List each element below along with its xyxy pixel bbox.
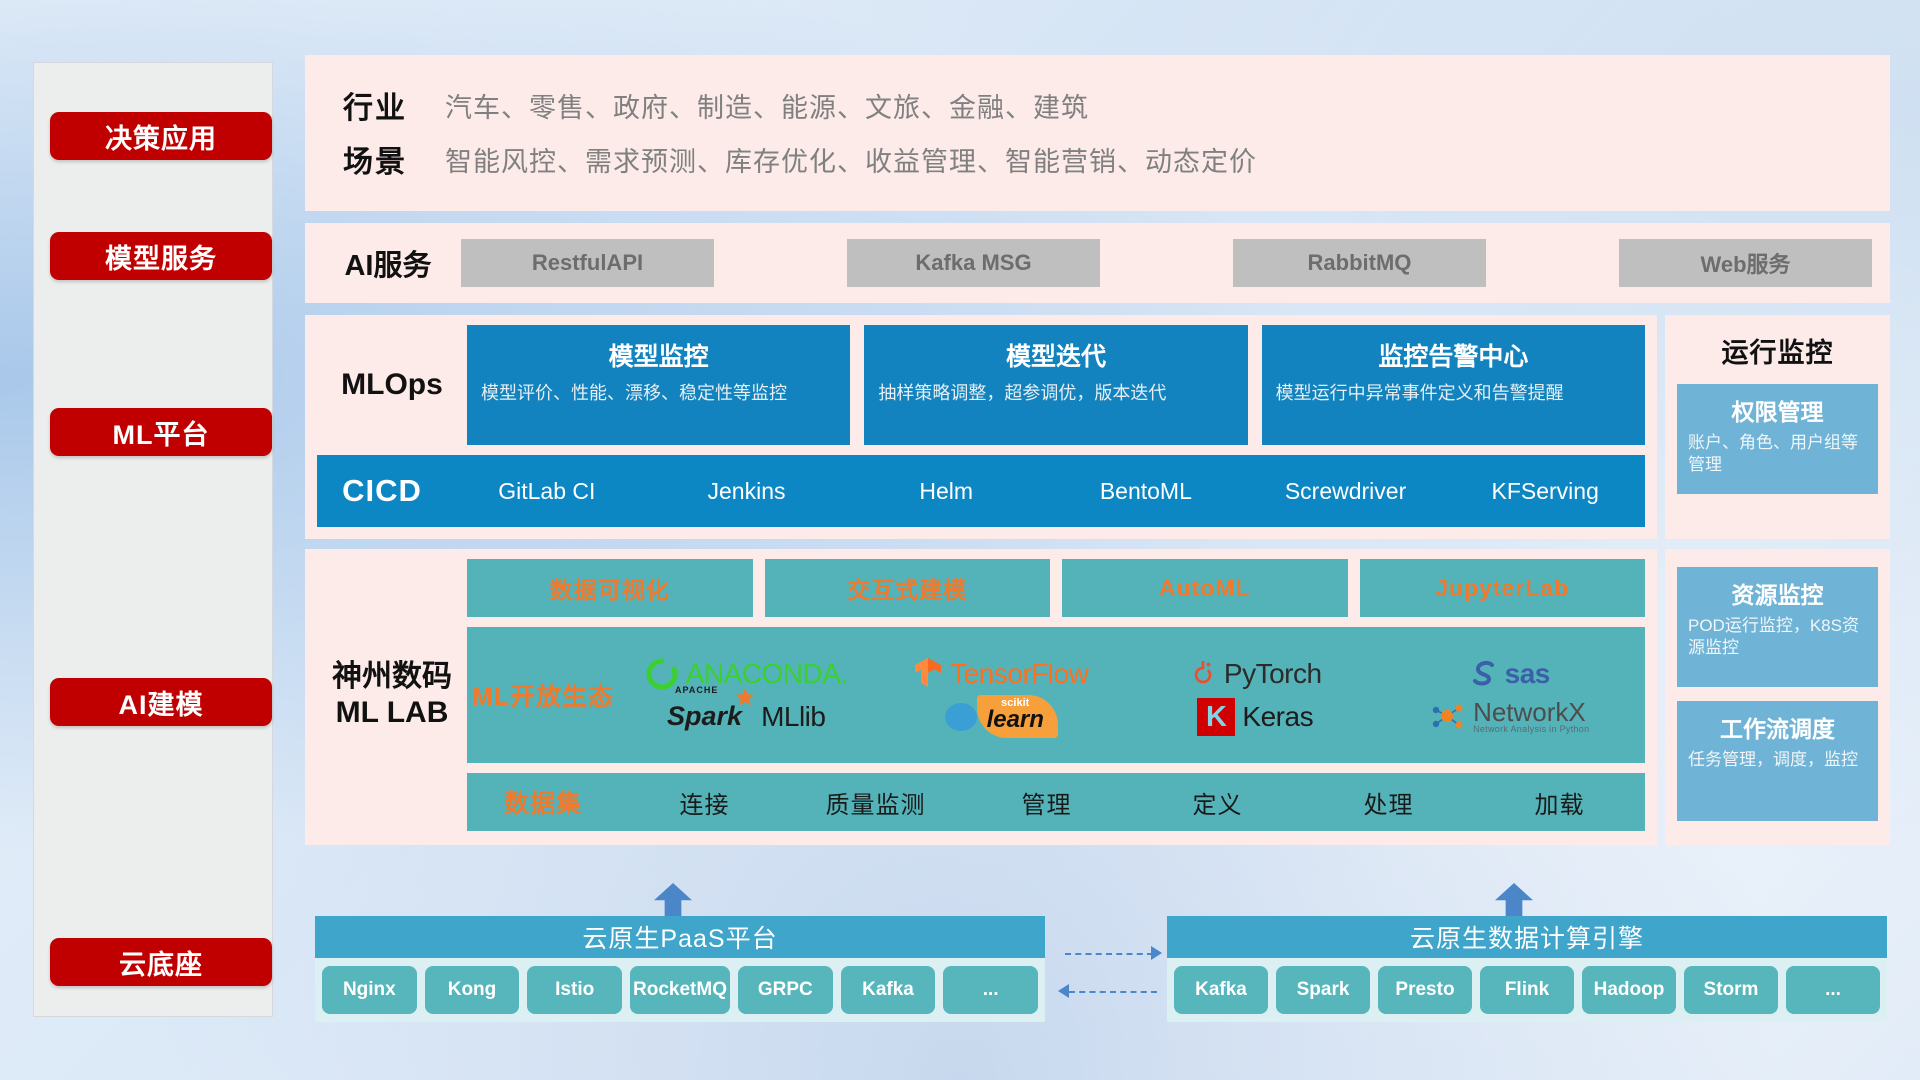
- scenario-key: 场景: [305, 137, 445, 181]
- rail-item-cloud-base[interactable]: 云底座: [50, 938, 272, 986]
- paas-box: 云原生PaaS平台 Nginx Kong Istio RocketMQ GRPC…: [315, 916, 1045, 1022]
- sas-logo[interactable]: sas: [1470, 658, 1550, 690]
- arrow-up-paas: [654, 883, 692, 919]
- mllab-chip-automl[interactable]: AutoML: [1062, 559, 1348, 617]
- mllib-label: MLlib: [761, 701, 825, 733]
- mllab-chip-jupyterlab[interactable]: JupyterLab: [1360, 559, 1646, 617]
- rail-label: 模型服务: [105, 237, 217, 276]
- mlops-lane: MLOps 模型监控 模型评价、性能、漂移、稳定性等监控 模型迭代 抽样策略调整…: [317, 325, 1645, 445]
- architecture-diagram: 决策应用 模型服务 ML平台 AI建模 云底座 行业 汽车、零售、政府、制造、能…: [0, 0, 1920, 1080]
- keras-mark-icon: K: [1197, 698, 1235, 736]
- rail-item-decision-app[interactable]: 决策应用: [50, 112, 272, 160]
- mllab-label-line2: ML LAB: [336, 696, 449, 729]
- cicd-bar: CICD GitLab CI Jenkins Helm BentoML Scre…: [317, 455, 1645, 527]
- mlops-card-alert-center[interactable]: 监控告警中心 模型运行中异常事件定义和告警提醒: [1262, 325, 1645, 445]
- compute-chips: Kafka Spark Presto Flink Hadoop Storm ..…: [1167, 958, 1887, 1022]
- sas-label: sas: [1505, 658, 1550, 690]
- pytorch-label: PyTorch: [1224, 658, 1322, 690]
- rail-label: 决策应用: [105, 117, 217, 156]
- cicd-item-screwdriver[interactable]: Screwdriver: [1246, 479, 1446, 503]
- paas-chip-grpc[interactable]: GRPC: [738, 966, 833, 1014]
- monitor-panel-top: 运行监控 权限管理 账户、角色、用户组等管理: [1665, 315, 1890, 539]
- ai-service-tag-web[interactable]: Web服务: [1619, 239, 1872, 287]
- card-title: 资源监控: [1688, 576, 1867, 610]
- industry-key: 行业: [305, 83, 445, 127]
- apache-label: APACHE: [675, 685, 718, 695]
- mlops-card-model-iteration[interactable]: 模型迭代 抽样策略调整，超参调优，版本迭代: [864, 325, 1247, 445]
- paas-chip-kong[interactable]: Kong: [425, 966, 520, 1014]
- spark-label: Spark: [667, 701, 742, 731]
- monitor-title: 运行监控: [1677, 331, 1878, 370]
- paas-chip-more[interactable]: ...: [943, 966, 1038, 1014]
- cloud-base-section: 云原生PaaS平台 Nginx Kong Istio RocketMQ GRPC…: [305, 893, 1890, 1013]
- paas-title: 云原生PaaS平台: [315, 916, 1045, 958]
- industry-value: 汽车、零售、政府、制造、能源、文旅、金融、建筑: [445, 86, 1089, 125]
- mlops-card-model-monitoring[interactable]: 模型监控 模型评价、性能、漂移、稳定性等监控: [467, 325, 850, 445]
- mllab-panel: 神州数码 ML LAB 数据可视化 交互式建模 AutoML JupyterLa…: [305, 549, 1657, 845]
- paas-chip-kafka[interactable]: Kafka: [841, 966, 936, 1014]
- arrow-up-compute: [1495, 883, 1533, 919]
- card-title: 监控告警中心: [1276, 337, 1631, 373]
- anaconda-icon: [645, 657, 679, 691]
- mllab-body: 数据可视化 交互式建模 AutoML JupyterLab ML开放生态: [467, 559, 1645, 831]
- compute-title: 云原生数据计算引擎: [1167, 916, 1887, 958]
- mllab-lane: 神州数码 ML LAB 数据可视化 交互式建模 AutoML JupyterLa…: [317, 559, 1645, 831]
- mlops-panel: MLOps 模型监控 模型评价、性能、漂移、稳定性等监控 模型迭代 抽样策略调整…: [305, 315, 1657, 539]
- dashed-line-right: [1065, 953, 1153, 955]
- rail-item-ai-modeling[interactable]: AI建模: [50, 678, 272, 726]
- layer-rail: [33, 62, 273, 1017]
- rail-label: ML平台: [113, 413, 210, 452]
- paas-chip-nginx[interactable]: Nginx: [322, 966, 417, 1014]
- compute-chip-more[interactable]: ...: [1786, 966, 1880, 1014]
- card-title: 工作流调度: [1688, 710, 1867, 744]
- scenario-value: 智能风控、需求预测、库存优化、收益管理、智能营销、动态定价: [445, 140, 1257, 179]
- ai-service-band: AI服务 RestfulAPI Kafka MSG RabbitMQ Web服务: [305, 223, 1890, 303]
- monitor-card-workflow[interactable]: 工作流调度 任务管理，调度，监控: [1677, 701, 1878, 821]
- ai-service-tag-rabbitmq[interactable]: RabbitMQ: [1233, 239, 1486, 287]
- networkx-label: NetworkX: [1473, 697, 1586, 727]
- compute-chip-presto[interactable]: Presto: [1378, 966, 1472, 1014]
- mlops-row: MLOps 模型监控 模型评价、性能、漂移、稳定性等监控 模型迭代 抽样策略调整…: [305, 315, 1890, 539]
- ml-ecosystem-label: ML开放生态: [467, 677, 619, 713]
- pytorch-logo[interactable]: PyTorch: [1189, 658, 1322, 690]
- dataset-item-process[interactable]: 处理: [1303, 785, 1474, 820]
- card-desc: 抽样策略调整，超参调优，版本迭代: [878, 381, 1233, 405]
- cicd-item-bentoml[interactable]: BentoML: [1046, 479, 1246, 503]
- networkx-logo[interactable]: NetworkX Network Analysis in Python: [1430, 699, 1589, 734]
- compute-chip-flink[interactable]: Flink: [1480, 966, 1574, 1014]
- compute-chip-spark[interactable]: Spark: [1276, 966, 1370, 1014]
- mlops-cards: 模型监控 模型评价、性能、漂移、稳定性等监控 模型迭代 抽样策略调整，超参调优，…: [467, 325, 1645, 445]
- sas-icon: [1470, 659, 1498, 689]
- cicd-item-kfserving[interactable]: KFServing: [1445, 479, 1645, 503]
- dataset-item-load[interactable]: 加载: [1474, 785, 1645, 820]
- tensorflow-logo[interactable]: TensorFlow: [913, 657, 1088, 691]
- paas-chip-istio[interactable]: Istio: [527, 966, 622, 1014]
- dataset-item-connect[interactable]: 连接: [619, 785, 790, 820]
- spark-mllib-logo[interactable]: APACHE Spark MLlib: [667, 701, 825, 733]
- dataset-item-quality[interactable]: 质量监测: [790, 785, 961, 820]
- dashed-line-left: [1069, 991, 1157, 993]
- card-desc: 任务管理，调度，监控: [1688, 749, 1867, 771]
- card-title: 模型监控: [481, 337, 836, 373]
- card-desc: POD运行监控，K8S资源监控: [1688, 615, 1867, 659]
- paas-chip-rocketmq[interactable]: RocketMQ: [630, 966, 730, 1014]
- industry-scenario-band: 行业 汽车、零售、政府、制造、能源、文旅、金融、建筑 场景 智能风控、需求预测、…: [305, 55, 1890, 211]
- ml-ecosystem-logos: ANACONDA. TensorFlow: [619, 652, 1645, 738]
- card-title: 权限管理: [1688, 393, 1867, 427]
- scenario-row: 场景 智能风控、需求预测、库存优化、收益管理、智能营销、动态定价: [305, 137, 1890, 181]
- networkx-graph-icon: [1430, 701, 1466, 733]
- mllab-label: 神州数码 ML LAB: [317, 559, 467, 831]
- rail-label: 云底座: [119, 943, 203, 982]
- rail-item-model-service[interactable]: 模型服务: [50, 232, 272, 280]
- main-column: 行业 汽车、零售、政府、制造、能源、文旅、金融、建筑 场景 智能风控、需求预测、…: [305, 55, 1890, 855]
- cicd-items: GitLab CI Jenkins Helm BentoML Screwdriv…: [447, 479, 1645, 503]
- dataset-bar: 数据集 连接 质量监测 管理 定义 处理 加载: [467, 773, 1645, 831]
- ai-service-label: AI服务: [323, 242, 453, 284]
- compute-chip-storm[interactable]: Storm: [1684, 966, 1778, 1014]
- dataset-item-manage[interactable]: 管理: [961, 785, 1132, 820]
- compute-chip-hadoop[interactable]: Hadoop: [1582, 966, 1676, 1014]
- mllab-chip-interactive-modeling[interactable]: 交互式建模: [765, 559, 1051, 617]
- compute-box: 云原生数据计算引擎 Kafka Spark Presto Flink Hadoo…: [1167, 916, 1887, 1022]
- dataset-item-define[interactable]: 定义: [1132, 785, 1303, 820]
- card-desc: 账户、角色、用户组等管理: [1688, 432, 1867, 476]
- ai-service-tag-restfulapi[interactable]: RestfulAPI: [461, 239, 714, 287]
- cicd-item-helm[interactable]: Helm: [846, 479, 1046, 503]
- paas-chips: Nginx Kong Istio RocketMQ GRPC Kafka ...: [315, 958, 1045, 1022]
- mlops-label: MLOps: [317, 325, 467, 445]
- monitor-card-permissions[interactable]: 权限管理 账户、角色、用户组等管理: [1677, 384, 1878, 494]
- card-title: 模型迭代: [878, 337, 1233, 373]
- compute-chip-kafka[interactable]: Kafka: [1174, 966, 1268, 1014]
- monitor-panel-bottom: 资源监控 POD运行监控，K8S资源监控 工作流调度 任务管理，调度，监控: [1665, 549, 1890, 845]
- mllab-row: 神州数码 ML LAB 数据可视化 交互式建模 AutoML JupyterLa…: [305, 549, 1890, 845]
- learn-label: learn: [987, 706, 1044, 734]
- rail-label: AI建模: [119, 683, 204, 722]
- dataset-label: 数据集: [467, 784, 619, 820]
- mlops-body: 模型监控 模型评价、性能、漂移、稳定性等监控 模型迭代 抽样策略调整，超参调优，…: [467, 325, 1645, 445]
- mllab-chip-data-visualization[interactable]: 数据可视化: [467, 559, 753, 617]
- tensorflow-icon: [913, 657, 943, 691]
- cicd-label: CICD: [317, 473, 447, 509]
- tensorflow-label: TensorFlow: [950, 658, 1088, 690]
- card-desc: 模型评价、性能、漂移、稳定性等监控: [481, 381, 836, 405]
- dataset-items: 连接 质量监测 管理 定义 处理 加载: [619, 785, 1645, 820]
- ai-service-tag-kafka-msg[interactable]: Kafka MSG: [847, 239, 1100, 287]
- spark-star-icon: [734, 687, 756, 709]
- mllab-label-line1: 神州数码: [332, 660, 452, 693]
- rail-item-ml-platform[interactable]: ML平台: [50, 408, 272, 456]
- keras-label: Keras: [1242, 701, 1313, 733]
- monitor-card-resources[interactable]: 资源监控 POD运行监控，K8S资源监控: [1677, 567, 1878, 687]
- dashed-arrow-right: [1151, 946, 1162, 960]
- pytorch-icon: [1189, 658, 1217, 690]
- industry-row: 行业 汽车、零售、政府、制造、能源、文旅、金融、建筑: [305, 83, 1890, 127]
- card-desc: 模型运行中异常事件定义和告警提醒: [1276, 381, 1631, 405]
- ai-service-tags: RestfulAPI Kafka MSG RabbitMQ Web服务: [453, 239, 1872, 287]
- networkx-tagline: Network Analysis in Python: [1473, 725, 1589, 734]
- ml-ecosystem-bar: ML开放生态 ANACONDA.: [467, 627, 1645, 763]
- cicd-item-gitlab-ci[interactable]: GitLab CI: [447, 479, 647, 503]
- dashed-arrow-left: [1058, 984, 1069, 998]
- cicd-item-jenkins[interactable]: Jenkins: [647, 479, 847, 503]
- scikit-learn-logo[interactable]: scikit learn: [944, 695, 1058, 738]
- keras-logo[interactable]: K Keras: [1197, 698, 1313, 736]
- mllab-chips: 数据可视化 交互式建模 AutoML JupyterLab: [467, 559, 1645, 617]
